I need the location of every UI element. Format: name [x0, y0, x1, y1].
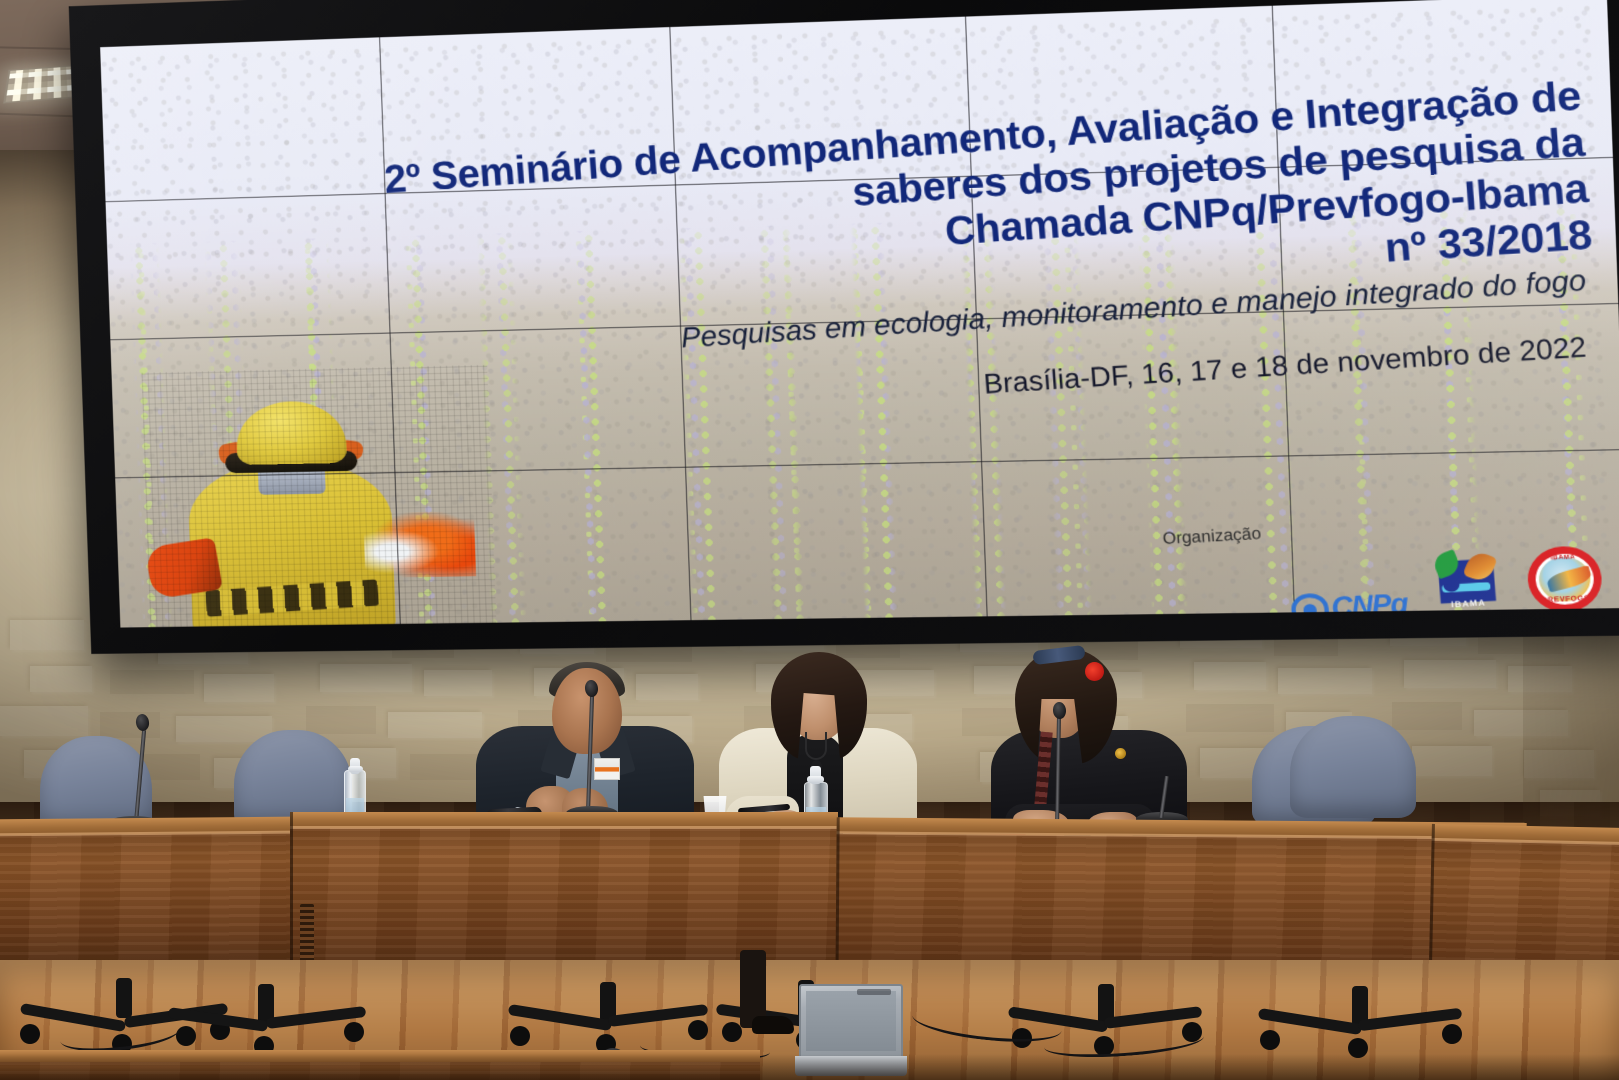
- video-wall[interactable]: 2º Seminário de Acompanhamento, Avaliaçã…: [69, 0, 1619, 654]
- pump-collar: [807, 776, 824, 783]
- panel-table-section-1: [0, 817, 295, 980]
- chair-empty-4[interactable]: [1290, 716, 1416, 818]
- conference-room-photo: 2º Seminário de Acompanhamento, Avaliaçã…: [0, 0, 1619, 1080]
- bottom-shade: [0, 1054, 1619, 1080]
- necklace: [805, 732, 827, 760]
- gooseneck-microphone[interactable]: [560, 676, 620, 822]
- slide-organization-label: Organização: [1162, 525, 1262, 549]
- pump-collar: [348, 766, 363, 772]
- chair-base: [168, 984, 368, 1046]
- prevfogo-bottom-text: PREVFOGO: [1537, 595, 1596, 605]
- ibama-wordmark: IBAMA: [1442, 598, 1496, 610]
- laptop-lid: [799, 984, 903, 1058]
- laptop-brand-mark: [857, 989, 891, 995]
- chair-base: [1258, 986, 1462, 1048]
- hair-flower: [1085, 662, 1104, 681]
- video-wall-screen: 2º Seminário de Acompanhamento, Avaliaçã…: [100, 0, 1619, 628]
- ibama-logo: IBAMA M M A: [1432, 550, 1501, 619]
- lapel-pin: [1115, 748, 1126, 759]
- presentation-slide: 2º Seminário de Acompanhamento, Avaliaçã…: [100, 0, 1619, 628]
- chair-base: [508, 982, 708, 1044]
- gooseneck-microphone[interactable]: [96, 712, 156, 830]
- prevfogo-logo: IBAMA PREVFOGO: [1525, 544, 1604, 613]
- gooseneck-microphone[interactable]: [1030, 700, 1090, 832]
- shoe: [752, 1016, 794, 1034]
